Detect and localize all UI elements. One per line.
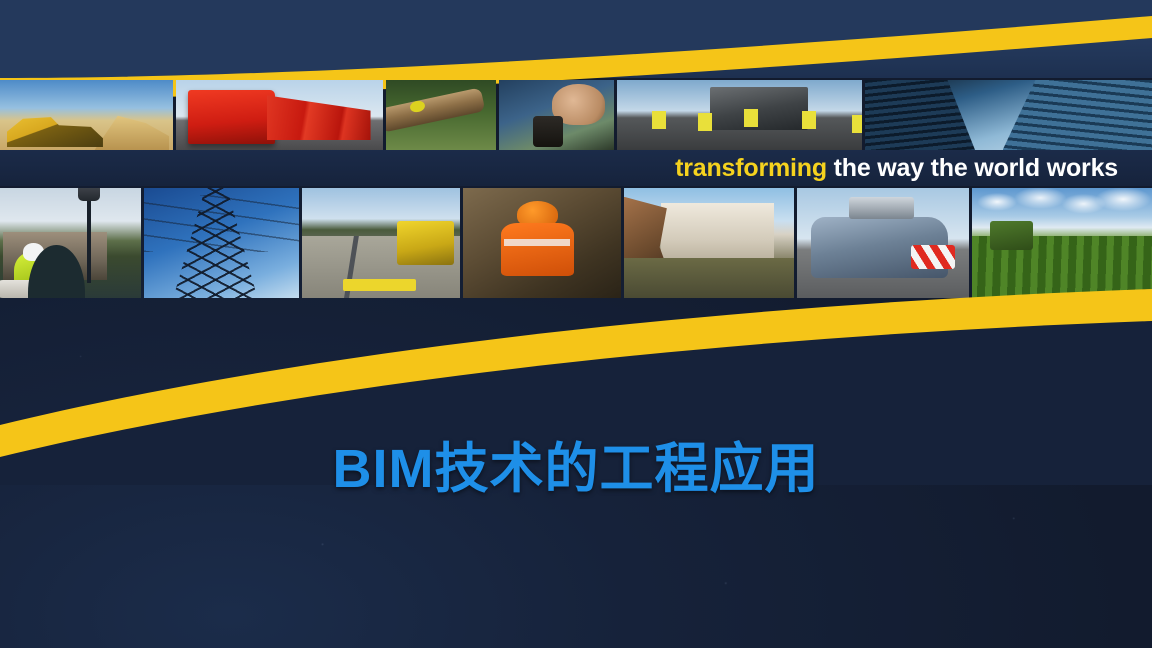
tagline-highlight: transforming — [675, 154, 827, 182]
tagline: transforming the way the world works — [675, 154, 1118, 183]
photo-red-truck-fleet — [176, 80, 383, 150]
presentation-slide: Trimble . transforming the way the world… — [0, 0, 1152, 648]
photo-road-paving-crew — [617, 80, 861, 150]
photo-strip-top — [0, 80, 1152, 150]
page-title: BIM技术的工程应用 — [0, 424, 1152, 503]
photo-bulldozer-earthmoving — [0, 80, 173, 150]
photo-skyscrapers — [865, 80, 1152, 150]
photo-forestry-timber — [386, 80, 496, 150]
photo-surveyor-handheld — [499, 80, 615, 150]
tagline-rest: the way the world works — [827, 154, 1118, 182]
tagline-bar: transforming the way the world works — [0, 150, 1152, 186]
